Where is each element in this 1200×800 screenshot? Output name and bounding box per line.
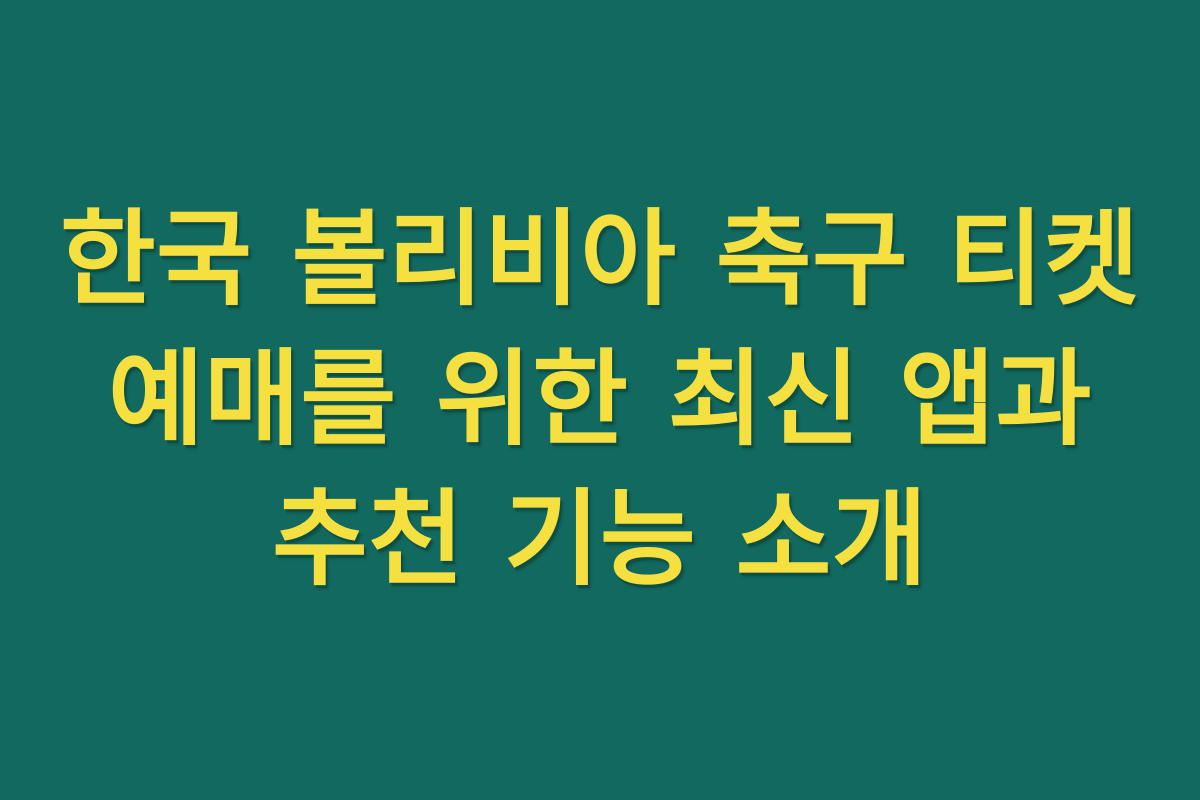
headline-line-1: 한국 볼리비아 축구 티켓 [50, 190, 1150, 330]
headline-line-3: 추천 기능 소개 [50, 470, 1150, 610]
headline-line-2: 예매를 위한 최신 앱과 [50, 330, 1150, 470]
page-title: 한국 볼리비아 축구 티켓 예매를 위한 최신 앱과 추천 기능 소개 [50, 190, 1150, 610]
title-card: 한국 볼리비아 축구 티켓 예매를 위한 최신 앱과 추천 기능 소개 [0, 0, 1200, 800]
